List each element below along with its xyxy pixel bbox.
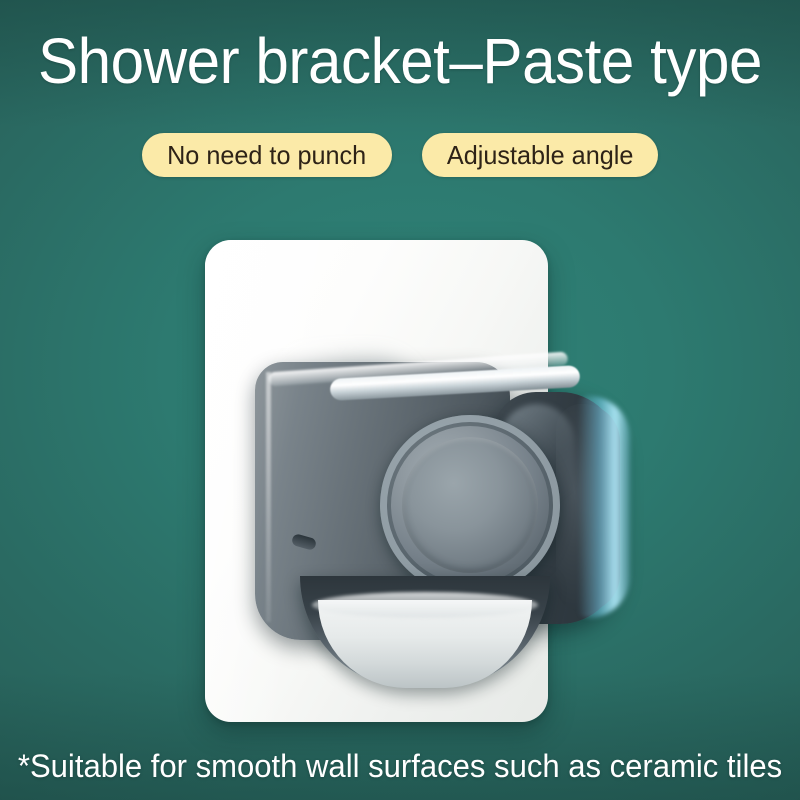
bracket-seam [266, 372, 271, 622]
page-title: Shower bracket–Paste type [24, 24, 776, 98]
feature-badges: No need to punch Adjustable angle [0, 133, 800, 177]
advertisement-banner: Shower bracket–Paste type No need to pun… [0, 0, 800, 800]
badge-no-need-to-punch: No need to punch [142, 133, 391, 177]
footer-note: *Suitable for smooth wall surfaces such … [12, 746, 788, 786]
bracket-cradle-lip [312, 592, 538, 618]
bracket-angle-disc-inner [402, 437, 538, 573]
bracket-head-rim-glow [578, 396, 630, 618]
product-image [0, 0, 800, 800]
badge-adjustable-angle: Adjustable angle [422, 133, 658, 177]
badge-label: Adjustable angle [446, 133, 632, 177]
badge-label: No need to punch [167, 133, 366, 177]
